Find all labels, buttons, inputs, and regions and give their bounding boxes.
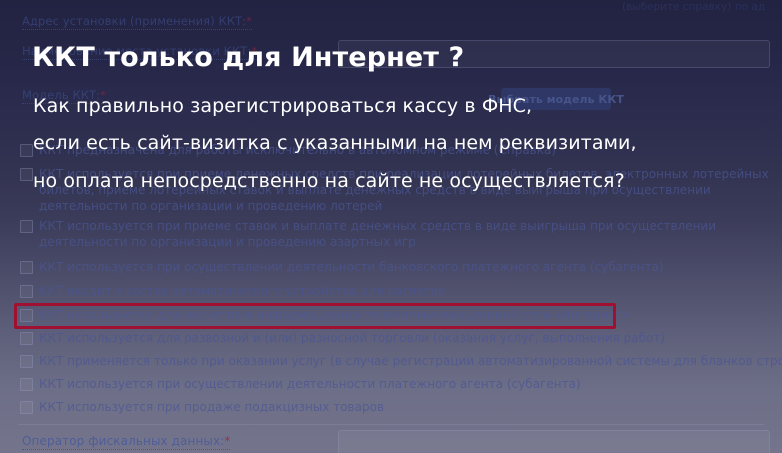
screenshot-root: (выберите справку) по ад Адрес установки… [0,0,782,453]
overlay-line-3: но оплата непосредственно на сайте не ос… [33,170,625,192]
page-title: ККТ только для Интернет ? [32,42,464,73]
overlay-line-1: Как правильно зарегистрироваться кассу в… [33,95,532,117]
overlay-line-2: если есть сайт-визитка с указанными на н… [33,132,637,154]
overlay-caption: ККТ только для Интернет ? Как правильно … [0,0,782,453]
